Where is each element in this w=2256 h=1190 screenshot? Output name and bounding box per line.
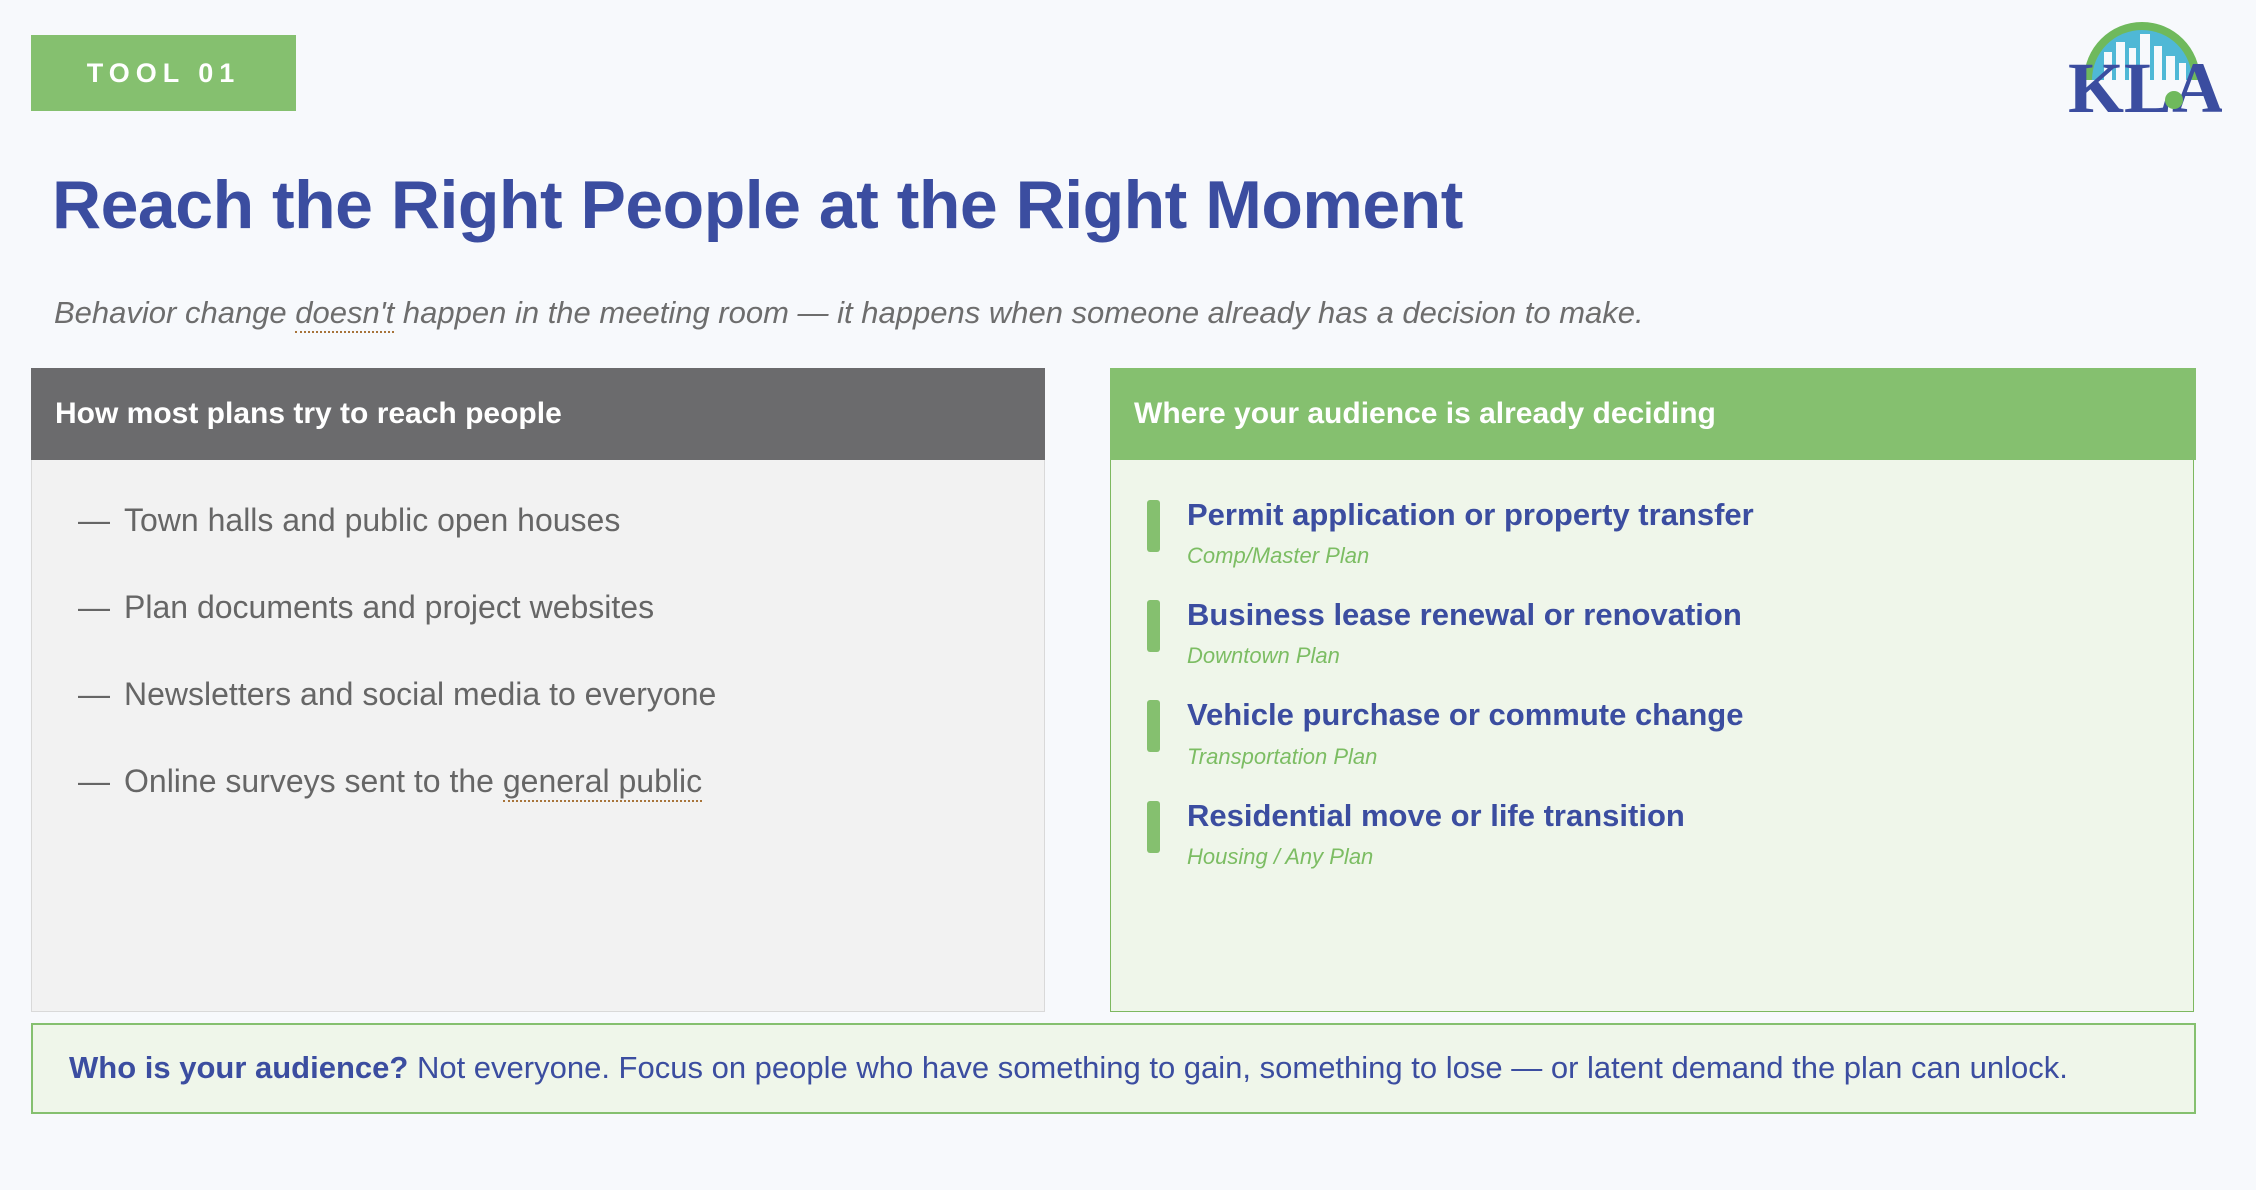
list-item: Business lease renewal or renovation Dow… bbox=[1147, 596, 2163, 669]
moment-title: Permit application or property transfer bbox=[1187, 496, 2163, 533]
list-item-label: Plan documents and project websites bbox=[124, 589, 654, 625]
list-item-label: Online surveys sent to the bbox=[124, 763, 503, 799]
kla-logo: KLA bbox=[2062, 8, 2222, 118]
moment-subtitle: Comp/Master Plan bbox=[1187, 543, 2163, 569]
logo-dot bbox=[2165, 91, 2183, 109]
logo-wordmark: KLA bbox=[2068, 48, 2222, 118]
moment-title: Vehicle purchase or commute change bbox=[1187, 696, 2163, 733]
dash-marker: — bbox=[78, 589, 110, 625]
subtitle-before: Behavior change bbox=[54, 295, 295, 330]
accent-bar bbox=[1147, 600, 1160, 652]
list-item-highlight: general public bbox=[503, 763, 702, 802]
left-panel-body: —Town halls and public open houses —Plan… bbox=[31, 460, 1045, 1012]
header-bar: TOOL 01 KLA bbox=[0, 0, 2256, 140]
panel-where-audience-deciding: Where your audience is already deciding … bbox=[1110, 368, 2196, 1012]
right-panel-body: Permit application or property transfer … bbox=[1110, 460, 2194, 1012]
subtitle-highlight: doesn't bbox=[295, 295, 394, 333]
list-item: —Town halls and public open houses bbox=[78, 502, 1014, 539]
dash-marker: — bbox=[78, 676, 110, 712]
accent-bar bbox=[1147, 500, 1160, 552]
moment-title: Business lease renewal or renovation bbox=[1187, 596, 2163, 633]
moment-title: Residential move or life transition bbox=[1187, 797, 2163, 834]
right-panel-heading: Where your audience is already deciding bbox=[1110, 368, 2196, 460]
page-subtitle: Behavior change doesn't happen in the me… bbox=[54, 295, 1644, 331]
subtitle-after: happen in the meeting room — it happens … bbox=[394, 295, 1643, 330]
list-item: —Online surveys sent to the general publ… bbox=[78, 763, 1014, 800]
tool-badge: TOOL 01 bbox=[31, 35, 296, 111]
callout-lead: Who is your audience? bbox=[69, 1050, 408, 1085]
list-item-label: Newsletters and social media to everyone bbox=[124, 676, 716, 712]
dash-marker: — bbox=[78, 763, 110, 799]
dash-marker: — bbox=[78, 502, 110, 538]
moment-subtitle: Housing / Any Plan bbox=[1187, 844, 2163, 870]
list-item: Residential move or life transition Hous… bbox=[1147, 797, 2163, 870]
accent-bar bbox=[1147, 700, 1160, 752]
list-item: —Newsletters and social media to everyon… bbox=[78, 676, 1014, 713]
callout-body: Not everyone. Focus on people who have s… bbox=[408, 1050, 2068, 1085]
list-item: Permit application or property transfer … bbox=[1147, 496, 2163, 569]
left-panel-heading: How most plans try to reach people bbox=[31, 368, 1045, 460]
panel-how-most-plans-reach-people: How most plans try to reach people —Town… bbox=[31, 368, 1045, 1012]
accent-bar bbox=[1147, 801, 1160, 853]
moment-subtitle: Transportation Plan bbox=[1187, 744, 2163, 770]
list-item: —Plan documents and project websites bbox=[78, 589, 1014, 626]
page-title: Reach the Right People at the Right Mome… bbox=[52, 166, 1463, 244]
moment-subtitle: Downtown Plan bbox=[1187, 643, 2163, 669]
list-item-label: Town halls and public open houses bbox=[124, 502, 620, 538]
audience-callout: Who is your audience? Not everyone. Focu… bbox=[31, 1023, 2196, 1114]
list-item: Vehicle purchase or commute change Trans… bbox=[1147, 696, 2163, 769]
